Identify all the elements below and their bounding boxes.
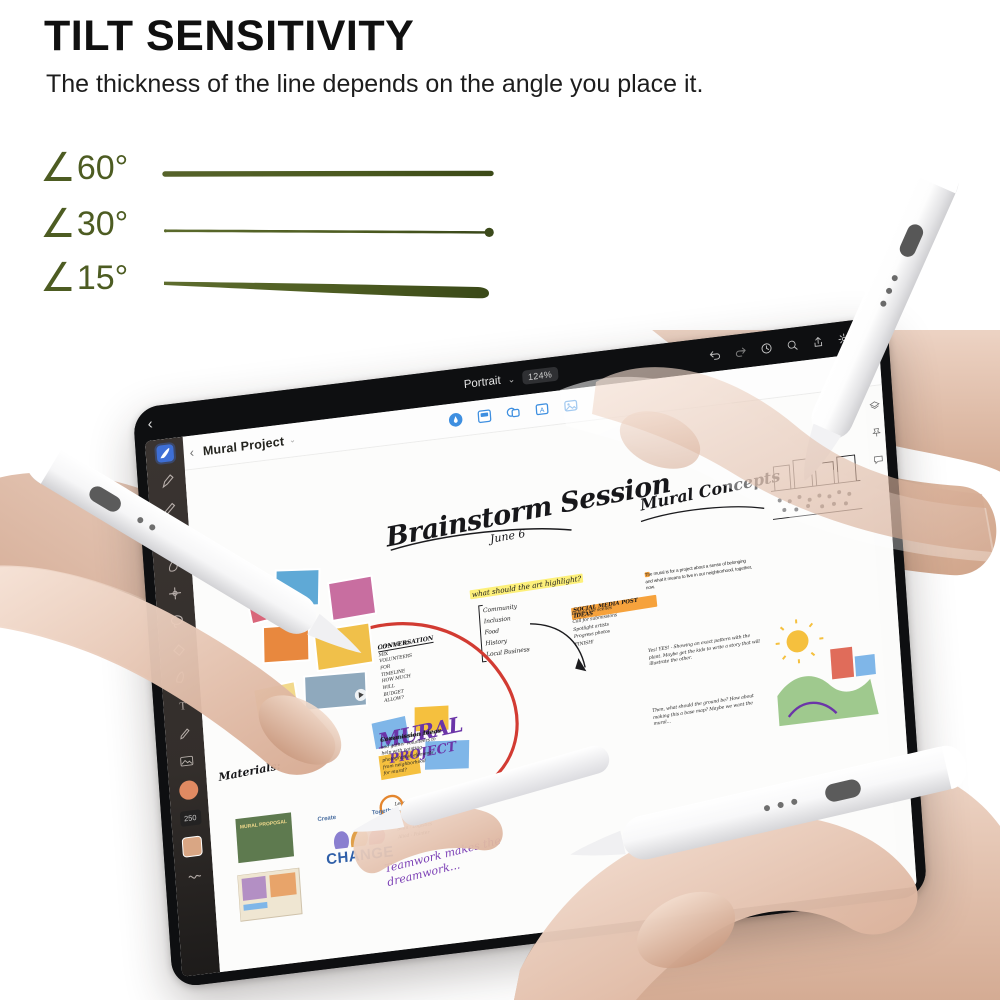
search-icon[interactable]	[785, 337, 799, 352]
fill-swatch[interactable]	[182, 835, 203, 857]
orientation-control[interactable]: Portrait ⌄ 124%	[463, 367, 558, 393]
page-title: TILT SENSITIVITY	[44, 12, 414, 61]
wave-icon[interactable]	[185, 867, 203, 886]
shapes-icon[interactable]	[505, 404, 521, 421]
right-block: Yes! YES! - Showing an exact pattern wit…	[648, 632, 763, 649]
tablet-scene: ‹ Portrait ⌄ 124%	[0, 330, 1000, 1000]
history-icon[interactable]	[760, 341, 774, 356]
angle-value: 60°	[77, 149, 128, 188]
angle-symbol-icon: ∠	[40, 204, 76, 244]
angle-label-30: ∠ 30°	[40, 204, 128, 244]
orientation-label: Portrait	[463, 375, 501, 392]
stroke-sample-15	[162, 258, 492, 314]
redo-icon[interactable]	[734, 344, 748, 359]
right-note-text: The mural is for a project about a sense…	[645, 557, 754, 592]
image-icon[interactable]	[563, 397, 579, 414]
stroke-sample-30	[162, 204, 492, 260]
product-marketing-image: TILT SENSITIVITY The thickness of the li…	[0, 0, 1000, 1000]
text-box-icon[interactable]: A	[534, 401, 550, 418]
undo-icon[interactable]	[708, 347, 722, 362]
pen-tool-icon[interactable]	[448, 411, 464, 428]
stylus-left	[0, 390, 410, 710]
chevron-down-icon[interactable]: ⌄	[507, 373, 515, 385]
zoom-level-badge[interactable]: 124%	[522, 367, 559, 385]
angle-label-15: ∠ 15°	[40, 258, 128, 298]
right-note: The mural is for a project about a sense…	[645, 557, 752, 572]
angle-value: 15°	[77, 259, 128, 298]
color-swatch[interactable]	[178, 780, 198, 801]
stroke-sample-60	[162, 148, 492, 204]
social-note: SOCIAL MEDIA POST IDEAS Behind the scene…	[571, 595, 656, 608]
proposal-card: MURAL PROPOSAL	[235, 812, 294, 863]
angle-value: 30°	[77, 205, 128, 244]
card-label: MURAL PROPOSAL	[240, 819, 287, 831]
angle-symbol-icon: ∠	[40, 258, 76, 298]
app-toolbar: A	[448, 397, 579, 428]
brush-size-value[interactable]: 250	[179, 809, 201, 827]
angle-label-60: ∠ 60°	[40, 148, 128, 188]
stylus-center-writing	[340, 722, 640, 862]
page-subtitle: The thickness of the line depends on the…	[46, 70, 703, 99]
angle-symbol-icon: ∠	[40, 148, 76, 188]
layer-icon[interactable]	[177, 752, 195, 771]
dropper-icon[interactable]	[175, 724, 193, 743]
stylus-top-right	[800, 90, 970, 510]
small-thumb-card	[237, 868, 304, 926]
sticky-note-icon[interactable]	[477, 408, 493, 425]
